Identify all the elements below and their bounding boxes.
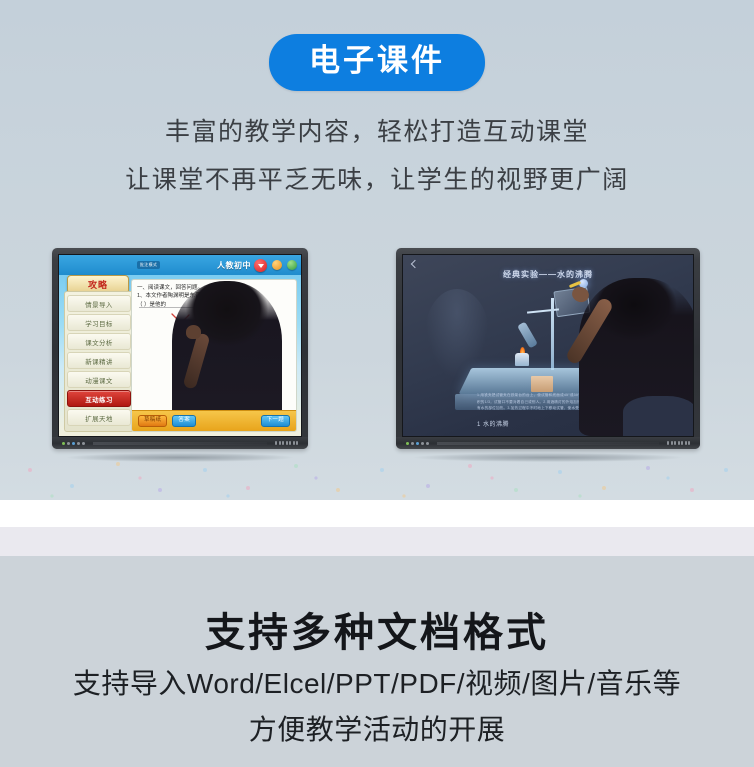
- menu-item-2[interactable]: 课文分析: [67, 333, 131, 350]
- experiment-footer-label: 1 水的沸腾: [477, 419, 509, 428]
- draft-paper-button[interactable]: 草稿纸: [138, 415, 167, 427]
- product-feature-page: 电子课件 丰富的教学内容，轻松打造互动课堂 让课堂不再平乏无味，让学生的视野更广…: [0, 0, 754, 767]
- bottom-description-line-1: 支持导入Word/Elcel/PPT/PDF/视频/图片/音乐等: [0, 662, 754, 702]
- student-silhouette-left: [172, 281, 282, 431]
- menu-item-1[interactable]: 学习目标: [67, 314, 131, 331]
- monitor-shadow-left: [67, 453, 292, 462]
- stand-clamp-arm: [527, 308, 559, 313]
- answer-button[interactable]: 答案: [172, 415, 196, 427]
- monitor-shadow-right: [414, 453, 682, 462]
- brand-strip-left: [93, 442, 267, 445]
- monitor-bezel-right: 经典实验——水的沸腾 1.用铁夹把试管夹在铁架台的台上，使试: [396, 248, 700, 449]
- menu-item-5-active[interactable]: 互动练习: [67, 390, 131, 407]
- courseware-app: 批注模式 人教初中 攻略 情景导入 学习目标 课文分析 新课精讲: [59, 255, 301, 436]
- menu-item-0[interactable]: 情景导入: [67, 295, 131, 312]
- student-hand-left: [186, 325, 201, 339]
- stand-pole: [551, 298, 554, 370]
- background-shadow-figure: [425, 289, 489, 379]
- interactive-display-right: 经典实验——水的沸腾 1.用铁夹把试管夹在铁架台的台上，使试: [396, 248, 700, 462]
- courseware-menu: 情景导入 学习目标 课文分析 新课精讲 动漫课文 互动练习 扩展天地: [64, 291, 134, 432]
- monitor-bottom-bezel-left: [52, 437, 308, 449]
- monitor-screen-left: 批注模式 人教初中 攻略 情景导入 学习目标 课文分析 新课精讲: [58, 254, 302, 437]
- interactive-display-left: 批注模式 人教初中 攻略 情景导入 学习目标 课文分析 新课精讲: [52, 248, 308, 462]
- menu-item-4[interactable]: 动漫课文: [67, 371, 131, 388]
- power-indicator-icons-right[interactable]: [406, 442, 429, 445]
- bottom-section-title: 支持多种文档格式: [0, 600, 754, 658]
- alcohol-burner: [515, 353, 529, 366]
- monitor-bottom-bezel-right: [396, 437, 700, 449]
- section-divider-light: [0, 527, 754, 556]
- next-question-button[interactable]: 下一题: [261, 415, 290, 427]
- courseware-action-bar: 草稿纸 答案 下一题: [132, 410, 296, 431]
- menu-item-6[interactable]: 扩展天地: [67, 409, 131, 426]
- annotation-mode-label[interactable]: 批注模式: [137, 261, 160, 269]
- monitor-bezel-left: 批注模式 人教初中 攻略 情景导入 学习目标 课文分析 新课精讲: [52, 248, 308, 449]
- back-arrow-icon[interactable]: [409, 260, 418, 269]
- top-hero-section: 电子课件 丰富的教学内容，轻松打造互动课堂 让课堂不再平乏无味，让学生的视野更广…: [0, 0, 754, 500]
- hero-subtitle-line-2: 让课堂不再平乏无味，让学生的视野更广阔: [0, 160, 754, 196]
- student-silhouette-right: [579, 278, 694, 436]
- wooden-block: [531, 376, 553, 392]
- courseware-toolbar: 批注模式 人教初中: [59, 255, 301, 275]
- student-shoulder-right: [623, 396, 694, 436]
- hero-subtitle-line-1: 丰富的教学内容，轻松打造互动课堂: [0, 112, 754, 148]
- grade-level-label: 人教初中: [217, 260, 251, 271]
- power-indicator-icons-left[interactable]: [62, 442, 85, 445]
- download-icon[interactable]: [272, 260, 282, 270]
- experiment-app: 经典实验——水的沸腾 1.用铁夹把试管夹在铁架台的台上，使试: [403, 255, 693, 436]
- volume-icon[interactable]: [287, 260, 297, 270]
- speaker-grille-right: [667, 441, 690, 445]
- speaker-grille-left: [275, 441, 298, 445]
- bottom-description-line-2: 方便教学活动的开展: [0, 708, 754, 748]
- section-badge-container: 电子课件: [0, 34, 754, 91]
- chevron-down-icon[interactable]: [254, 259, 267, 272]
- test-tube: [517, 321, 538, 348]
- monitor-screen-right: 经典实验——水的沸腾 1.用铁夹把试管夹在铁架台的台上，使试: [402, 254, 694, 437]
- student-arm-left: [183, 332, 211, 389]
- brand-strip-right: [437, 442, 659, 445]
- bottom-feature-section: 支持多种文档格式 支持导入Word/Elcel/PPT/PDF/视频/图片/音乐…: [0, 556, 754, 767]
- menu-item-3[interactable]: 新课精讲: [67, 352, 131, 369]
- courseware-content-page: 一、阅读课文，回答问题。 1、本文作者陶渊明是东晋时期 （ ）是他的: [131, 279, 297, 432]
- section-badge: 电子课件: [269, 34, 485, 91]
- section-divider-white: [0, 500, 754, 527]
